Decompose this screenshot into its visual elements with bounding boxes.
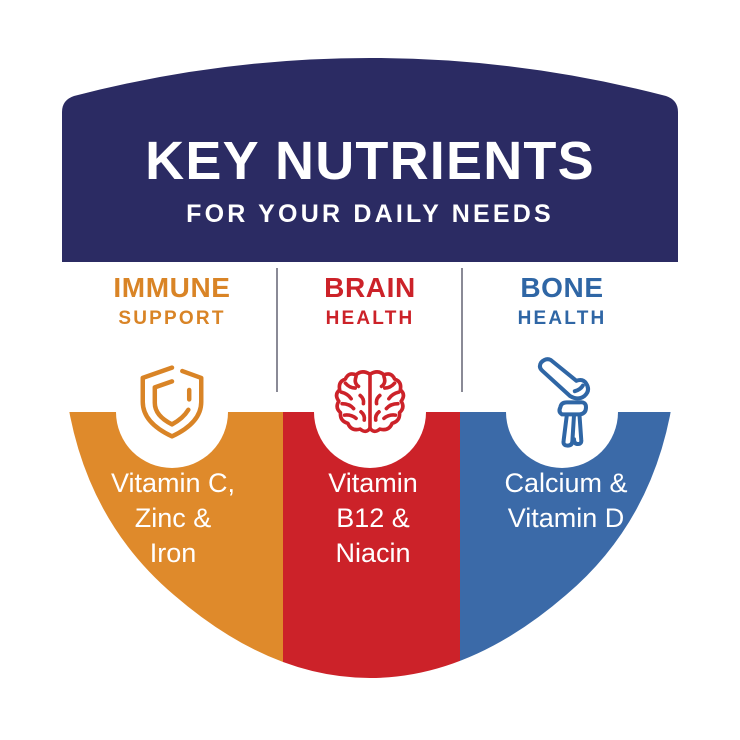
shield-infographic: KEY NUTRIENTS FOR YOUR DAILY NEEDS IMMUN…: [0, 0, 740, 740]
panel-immune: [0, 412, 283, 740]
panel-bone: [460, 412, 740, 740]
shield-graphic: [0, 0, 740, 740]
header-band: [0, 0, 740, 262]
panel-brain: [283, 412, 460, 740]
